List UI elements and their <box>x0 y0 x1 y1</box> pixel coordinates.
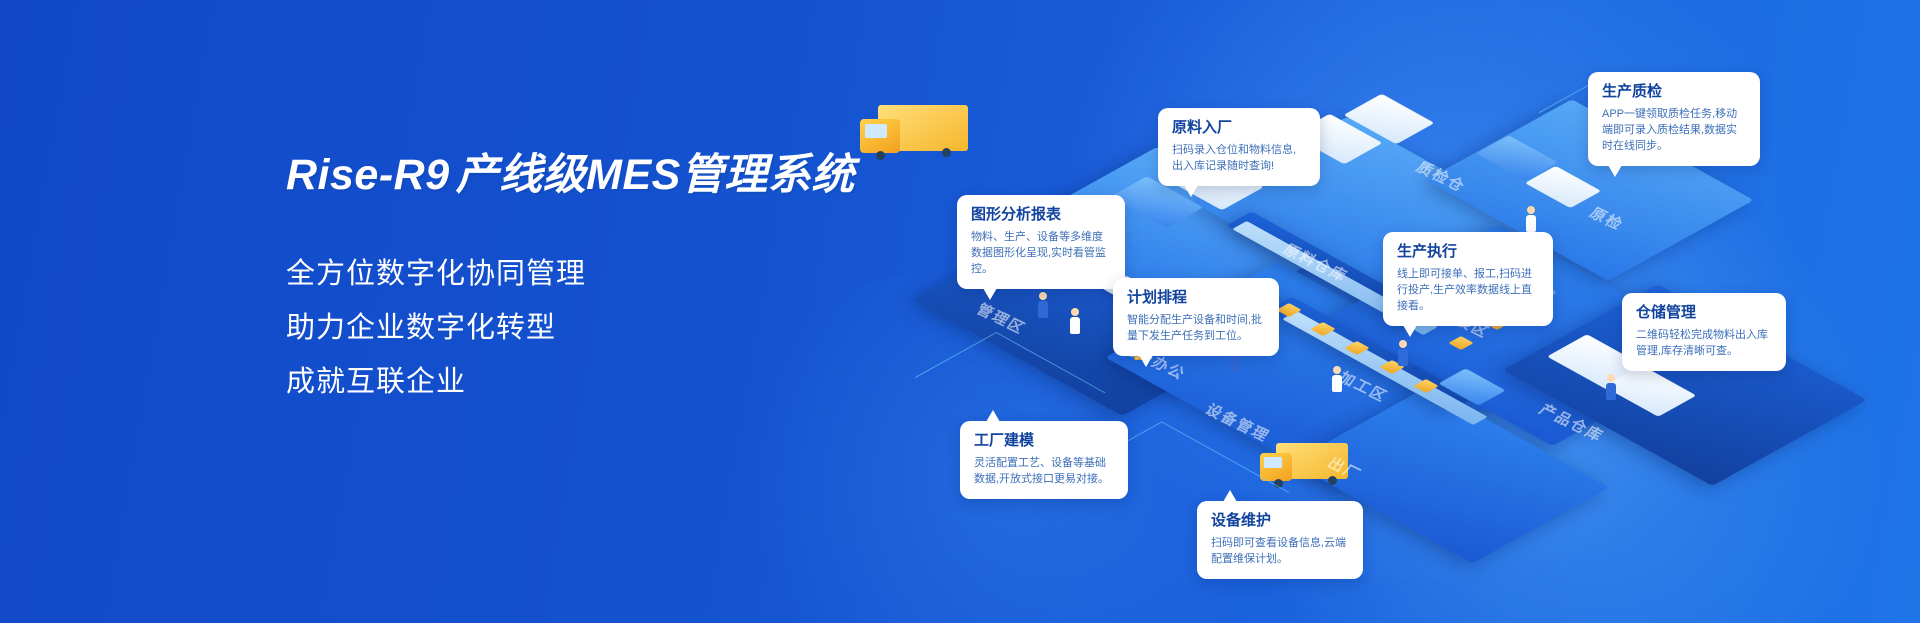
card-title: 图形分析报表 <box>971 206 1111 224</box>
worker-body <box>1038 301 1048 318</box>
card-pointer-tail <box>1139 355 1153 367</box>
card-body: 扫码录入仓位和物料信息,出入库记录随时查询! <box>1172 142 1306 174</box>
page-title: Rise-R9产线级MES管理系统 <box>286 140 855 202</box>
card-body: APP一键领取质检任务,移动端即可录入质检结果,数据实时在线同步。 <box>1602 106 1746 154</box>
worker-head <box>1333 366 1341 374</box>
worker-figure <box>1038 292 1048 318</box>
hero-copy: Rise-R9产线级MES管理系统 全方位数字化协同管理 助力企业数字化转型 成… <box>286 140 855 409</box>
worker-figure <box>1332 366 1342 392</box>
worker-figure <box>1526 206 1536 232</box>
callout-card-quality-inspection[interactable]: 生产质检 APP一键领取质检任务,移动端即可录入质检结果,数据实时在线同步。 <box>1588 72 1760 166</box>
worker-figure <box>1070 308 1080 334</box>
mes-hero-banner: Rise-R9产线级MES管理系统 全方位数字化协同管理 助力企业数字化转型 成… <box>0 0 1920 623</box>
card-pointer-tail <box>983 288 997 300</box>
truck-wheel <box>1328 476 1337 485</box>
card-pointer-tail <box>1403 325 1417 337</box>
card-title: 生产执行 <box>1397 243 1539 261</box>
worker-figure <box>1606 374 1616 400</box>
card-pointer-tail <box>986 410 1000 422</box>
callout-card-material-inbound[interactable]: 原料入厂 扫码录入仓位和物料信息,出入库记录随时查询! <box>1158 108 1320 186</box>
headline-product-name: Rise-R9 <box>286 151 450 199</box>
worker-head <box>1607 374 1615 382</box>
card-body: 线上即可接单、报工,扫码进行投产,生产效率数据线上直接看。 <box>1397 266 1539 314</box>
worker-head <box>1399 340 1407 348</box>
callout-card-factory-modeling[interactable]: 工厂建模 灵活配置工艺、设备等基础数据,开放式接口更易对接。 <box>960 421 1128 499</box>
card-body: 智能分配生产设备和时间,批量下发生产任务到工位。 <box>1127 312 1265 344</box>
card-body: 二维码轻松完成物料出入库管理,库存清晰可查。 <box>1636 327 1772 359</box>
card-title: 设备维护 <box>1211 512 1349 530</box>
worker-figure <box>1398 340 1408 366</box>
callout-card-graphic-report[interactable]: 图形分析报表 物料、生产、设备等多维度数据图形化呈现,实时看管监控。 <box>957 195 1125 289</box>
headline-chinese: 产线级MES管理系统 <box>456 151 855 199</box>
card-title: 计划排程 <box>1127 289 1265 307</box>
callout-card-production-execution[interactable]: 生产执行 线上即可接单、报工,扫码进行投产,生产效率数据线上直接看。 <box>1383 232 1553 326</box>
subtitle-line-1: 全方位数字化协同管理 <box>286 247 855 301</box>
card-body: 物料、生产、设备等多维度数据图形化呈现,实时看管监控。 <box>971 229 1111 277</box>
hero-subtitles: 全方位数字化协同管理 助力企业数字化转型 成就互联企业 <box>286 247 855 409</box>
card-pointer-tail <box>1611 317 1625 331</box>
card-title: 工厂建模 <box>974 432 1114 450</box>
card-body: 扫码即可查看设备信息,云端配置维保计划。 <box>1211 535 1349 567</box>
card-pointer-tail <box>1608 165 1622 177</box>
truck-window <box>1264 457 1282 468</box>
card-title: 原料入厂 <box>1172 119 1306 137</box>
card-pointer-tail <box>1184 185 1198 197</box>
worker-body <box>1230 355 1240 372</box>
callout-card-equipment-maintenance[interactable]: 设备维护 扫码即可查看设备信息,云端配置维保计划。 <box>1197 501 1363 579</box>
worker-body <box>1332 375 1342 392</box>
worker-head <box>1527 206 1535 214</box>
subtitle-line-3: 成就互联企业 <box>286 355 855 409</box>
worker-body <box>1398 349 1408 366</box>
truck-inbound <box>860 95 990 175</box>
worker-head <box>1071 308 1079 316</box>
truck-wheel <box>942 148 951 157</box>
card-title: 生产质检 <box>1602 83 1746 101</box>
truck-window <box>865 124 887 138</box>
card-body: 灵活配置工艺、设备等基础数据,开放式接口更易对接。 <box>974 455 1114 487</box>
card-title: 仓储管理 <box>1636 304 1772 322</box>
callout-card-warehouse-management[interactable]: 仓储管理 二维码轻松完成物料出入库管理,库存清晰可查。 <box>1622 293 1786 371</box>
truck-wheel <box>876 151 885 160</box>
subtitle-line-2: 助力企业数字化转型 <box>286 301 855 355</box>
worker-body <box>1606 383 1616 400</box>
worker-body <box>1070 317 1080 334</box>
callout-card-plan-scheduling[interactable]: 计划排程 智能分配生产设备和时间,批量下发生产任务到工位。 <box>1113 278 1279 356</box>
card-pointer-tail <box>1223 490 1237 502</box>
worker-body <box>1526 215 1536 232</box>
worker-head <box>1039 292 1047 300</box>
